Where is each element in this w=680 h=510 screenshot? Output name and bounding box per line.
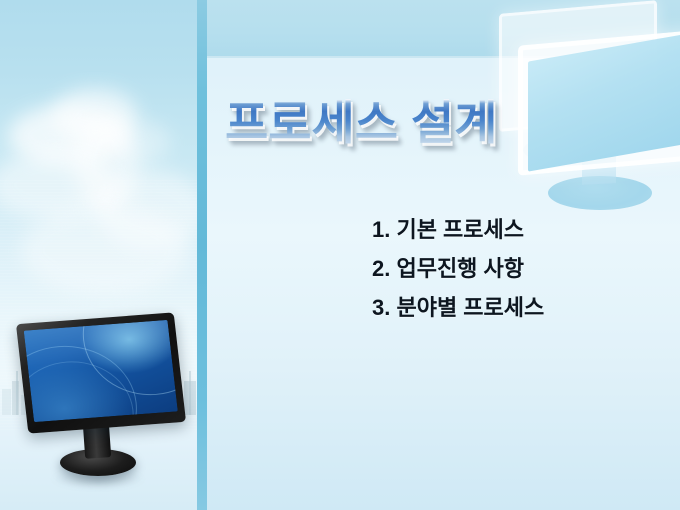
cloud-shape [52,88,138,142]
agenda-list: 1. 기본 프로세스 2. 업무진행 사항 3. 분야별 프로세스 [372,219,544,319]
presentation-slide: 프로세스 설계 1. 기본 프로세스 2. 업무진행 사항 3. 분야별 프로세… [0,0,680,510]
list-item: 1. 기본 프로세스 [372,219,544,241]
list-item: 3. 분야별 프로세스 [372,297,544,319]
cloud-shape [74,116,140,212]
ghost-monitor-stand [582,153,616,185]
list-item: 2. 업무진행 사항 [372,258,544,280]
monitor-bezel [16,312,186,433]
cloud-shape [110,120,170,164]
cloud-shape [96,170,198,250]
left-image-panel [0,0,198,510]
ghost-monitor-base [523,135,619,165]
vertical-accent-divider [197,0,207,510]
ghost-monitor-base [548,176,652,210]
cloud-shape [0,150,120,220]
cloud-shape [20,205,190,295]
monitor-screen [24,320,178,422]
ghost-monitor-stand [555,114,585,144]
slide-title: 프로세스 설계 [225,99,498,146]
top-accent-band [207,0,680,58]
cloud-shape [8,105,128,167]
